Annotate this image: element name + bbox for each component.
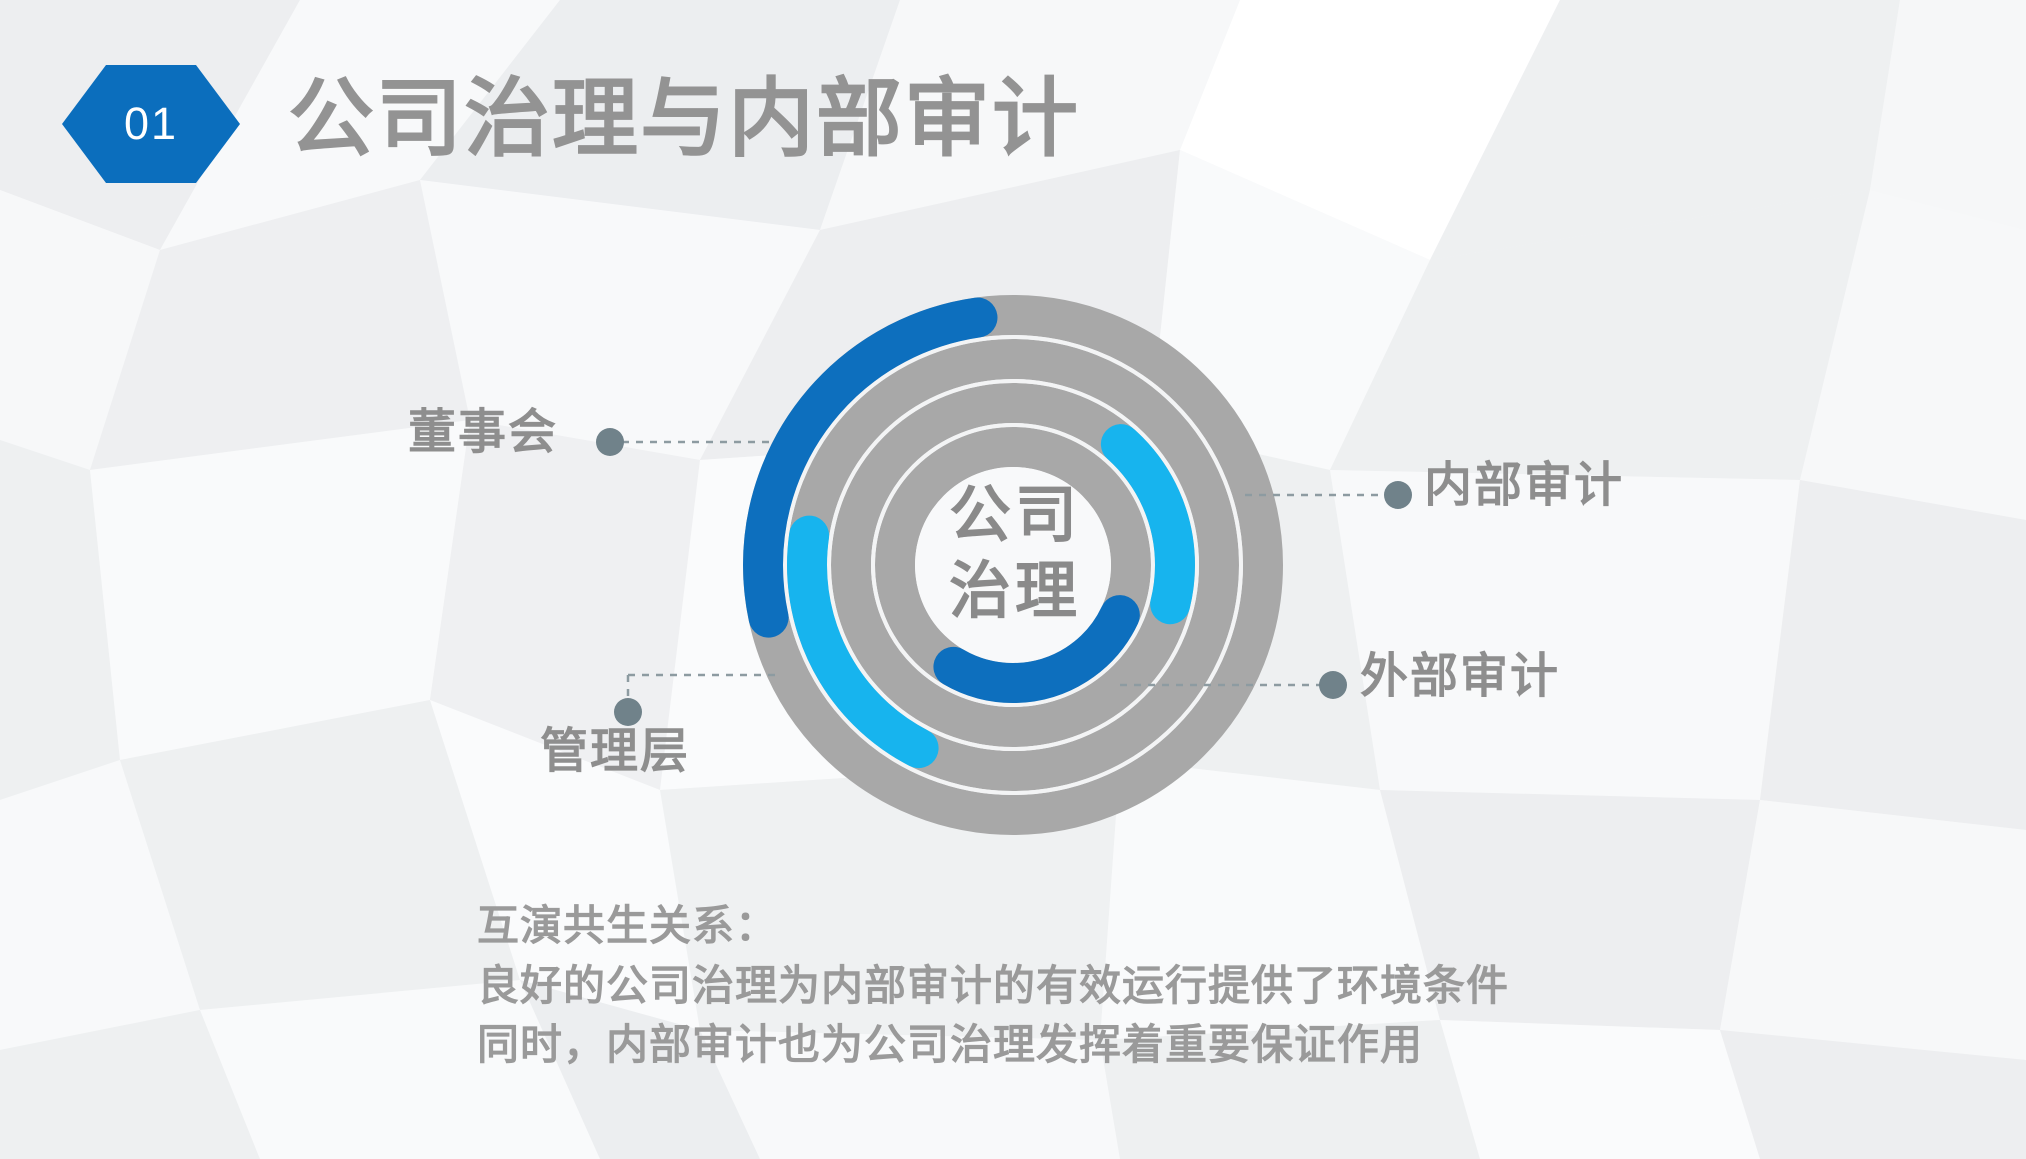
slide-canvas: 01 公司治理与内部审计 — [0, 0, 2026, 1159]
slide-header: 01 公司治理与内部审计 — [0, 0, 2026, 230]
callout-label-internal-audit: 内部审计 — [1424, 462, 1624, 510]
ring-center-line-1: 公司 — [855, 478, 1175, 554]
bottom-note-line-2: 良好的公司治理为内部审计的有效运行提供了环境条件 — [477, 956, 1509, 1016]
callout-label-board: 董事会 — [408, 409, 558, 457]
bottom-note: 互演共生关系： 良好的公司治理为内部审计的有效运行提供了环境条件 同时，内部审计… — [477, 896, 1509, 1075]
bottom-note-line-1: 互演共生关系： — [477, 896, 1509, 956]
callout-label-external-audit: 外部审计 — [1360, 653, 1560, 701]
bottom-note-line-3: 同时，内部审计也为公司治理发挥着重要保证作用 — [477, 1015, 1509, 1075]
callout-label-management: 管理层 — [540, 728, 690, 776]
badge-number: 01 — [62, 65, 240, 183]
ring-center-label: 公司 治理 — [855, 478, 1175, 629]
ring-center-line-2: 治理 — [855, 554, 1175, 630]
page-title: 公司治理与内部审计 — [288, 72, 1080, 167]
